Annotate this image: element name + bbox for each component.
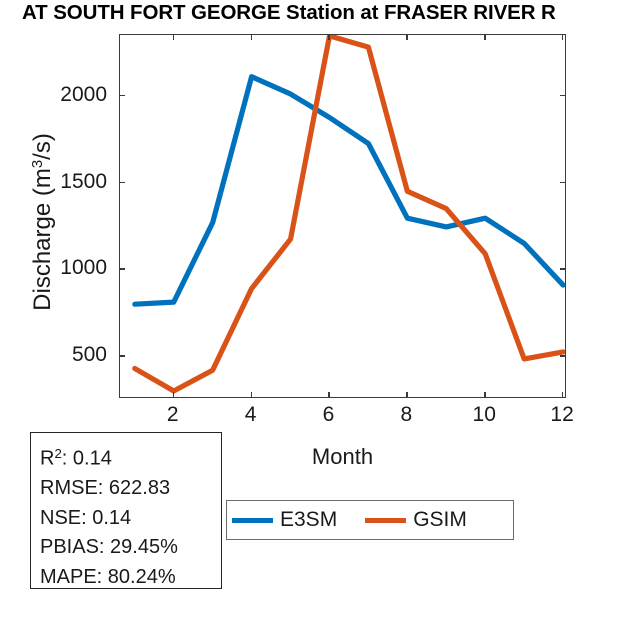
y-axis-label-suffix: /s) (29, 133, 56, 160)
stat-pbias: PBIAS: 29.45% (40, 533, 221, 563)
x-tick-label-6: 6 (323, 403, 335, 427)
x-tick-8 (406, 34, 407, 40)
plot-area (119, 34, 566, 398)
y-tick-1500 (560, 182, 566, 183)
legend-swatch-gsim (365, 518, 406, 523)
stat-r2-label: R (40, 448, 54, 470)
x-tick-8 (406, 392, 407, 398)
x-tick-2 (173, 392, 174, 398)
legend-item-gsim[interactable]: GSIM (365, 508, 467, 532)
x-tick-12 (562, 392, 563, 398)
legend-label-gsim: GSIM (413, 508, 467, 532)
x-tick-label-4: 4 (245, 403, 257, 427)
statistics-box: R2: 0.14 RMSE: 622.83 NSE: 0.14 PBIAS: 2… (30, 432, 222, 589)
stat-r2: R2: 0.14 (40, 439, 221, 474)
x-tick-4 (251, 34, 252, 40)
y-tick-2000 (119, 95, 125, 96)
y-axis-label-exponent: 3 (30, 160, 46, 168)
x-tick-label-8: 8 (401, 403, 413, 427)
legend-item-e3sm[interactable]: E3SM (232, 508, 337, 532)
y-tick-1000 (119, 268, 125, 269)
stat-rmse: RMSE: 622.83 (40, 474, 221, 504)
legend-label-e3sm: E3SM (280, 508, 337, 532)
y-tick-2000 (560, 95, 566, 96)
series-line-gsim (135, 36, 563, 391)
stat-nse: NSE: 0.14 (40, 504, 221, 534)
y-axis-label: Discharge (m3/s) (29, 12, 57, 432)
x-tick-label-2: 2 (167, 403, 179, 427)
page-title: AT SOUTH FORT GEORGE Station at FRASER R… (22, 1, 625, 25)
series-line-e3sm (135, 77, 563, 305)
x-tick-6 (328, 34, 329, 40)
x-tick-6 (328, 392, 329, 398)
stat-mape: MAPE: 80.24% (40, 563, 221, 593)
y-tick-1500 (119, 182, 125, 183)
chart-figure: AT SOUTH FORT GEORGE Station at FRASER R… (0, 0, 625, 625)
series-canvas (120, 35, 566, 398)
y-tick-1000 (560, 268, 566, 269)
x-tick-4 (251, 392, 252, 398)
stat-r2-exponent: 2 (54, 446, 61, 461)
x-tick-label-10: 10 (473, 403, 496, 427)
y-axis-label-prefix: Discharge (m (29, 168, 56, 311)
y-tick-500 (119, 355, 125, 356)
x-tick-label-12: 12 (550, 403, 573, 427)
legend-swatch-e3sm (232, 518, 273, 523)
x-tick-10 (484, 34, 485, 40)
x-tick-10 (484, 392, 485, 398)
x-tick-12 (562, 34, 563, 40)
stat-r2-value: : 0.14 (62, 448, 112, 470)
y-tick-500 (560, 355, 566, 356)
x-tick-2 (173, 34, 174, 40)
legend: E3SM GSIM (226, 500, 514, 540)
